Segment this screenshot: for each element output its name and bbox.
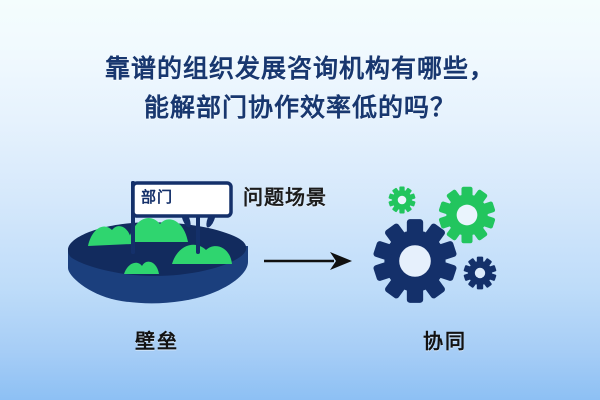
flag-label: 部门 bbox=[141, 186, 173, 207]
large-navy-gear bbox=[373, 219, 458, 303]
medium-green-gear bbox=[438, 187, 495, 244]
caption-silo: 壁垒 bbox=[135, 325, 179, 354]
small-green-gear bbox=[388, 186, 415, 213]
gears-illustration bbox=[358, 182, 533, 317]
title-line-1: 靠谱的组织发展咨询机构有哪些， bbox=[0, 50, 600, 89]
title-line-2: 能解部门协作效率低的吗？ bbox=[0, 89, 600, 128]
bush-center bbox=[128, 218, 188, 242]
page-title: 靠谱的组织发展咨询机构有哪些， 能解部门协作效率低的吗？ bbox=[0, 50, 600, 128]
right-arrow-icon bbox=[262, 250, 354, 277]
caption-collaboration: 协同 bbox=[423, 325, 467, 354]
bush-left bbox=[88, 226, 132, 246]
scene-label: 问题场景 bbox=[243, 181, 327, 210]
small-navy-gear bbox=[463, 257, 496, 290]
poster-canvas: 靠谱的组织发展咨询机构有哪些， 能解部门协作效率低的吗？ 部门 问题场景 bbox=[0, 0, 600, 400]
